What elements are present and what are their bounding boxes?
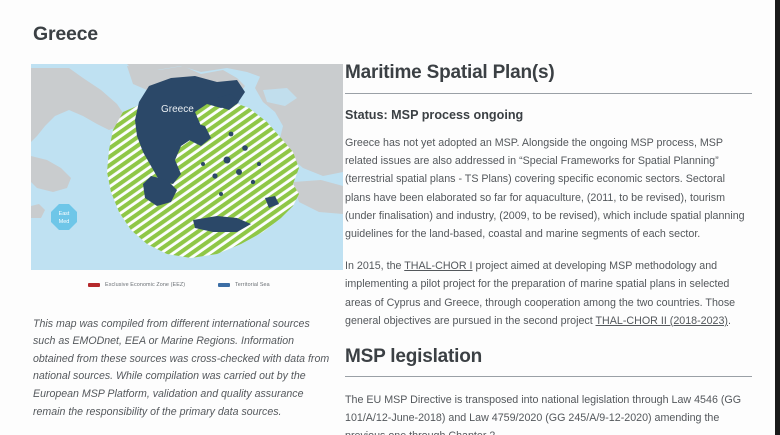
status-badge: Status: MSP process ongoing bbox=[345, 108, 752, 122]
east-med-badge-line2: Med bbox=[59, 219, 70, 225]
paragraph-legislation: The EU MSP Directive is transposed into … bbox=[345, 391, 752, 435]
page-title: Greece bbox=[33, 23, 98, 46]
section-msp-legislation: MSP legislation The EU MSP Directive is … bbox=[345, 346, 752, 435]
map-graphic bbox=[31, 64, 343, 270]
paragraph-msp-overview: Greece has not yet adopted an MSP. Along… bbox=[345, 134, 752, 243]
window-right-edge bbox=[775, 0, 780, 435]
map-caption: This map was compiled from different int… bbox=[33, 316, 333, 422]
link-thal-chor-ii[interactable]: THAL-CHOR II (2018-2023) bbox=[596, 315, 728, 327]
east-med-badge[interactable]: East Med bbox=[51, 204, 77, 230]
document-page: Greece bbox=[0, 0, 780, 435]
page-content: Greece bbox=[0, 0, 775, 435]
paragraph-thalchor-text-c: . bbox=[728, 315, 731, 327]
legend-dash-icon bbox=[218, 283, 230, 287]
section-maritime-spatial-plans: Maritime Spatial Plan(s) Status: MSP pro… bbox=[345, 62, 752, 330]
paragraph-thalchor-text-a: In 2015, the bbox=[345, 260, 404, 272]
greece-maritime-map[interactable]: Greece East Med bbox=[31, 64, 343, 270]
paragraph-thalchor: In 2015, the THAL-CHOR I project aimed a… bbox=[345, 257, 752, 330]
section-heading-legislation: MSP legislation bbox=[345, 346, 752, 376]
legend-item-eez: Exclusive Economic Zone (EEZ) bbox=[88, 282, 185, 288]
map-column: Greece East Med Exclusive Economic Zone … bbox=[31, 64, 343, 296]
text-column: Maritime Spatial Plan(s) Status: MSP pro… bbox=[345, 62, 752, 435]
legend-dash-icon bbox=[88, 283, 100, 287]
east-med-badge-line1: East bbox=[59, 211, 70, 217]
legend-label-eez: Exclusive Economic Zone (EEZ) bbox=[105, 282, 185, 288]
map-legend: Exclusive Economic Zone (EEZ) Territoria… bbox=[31, 282, 343, 296]
link-thal-chor-i[interactable]: THAL-CHOR I bbox=[404, 260, 472, 272]
section-divider bbox=[345, 376, 752, 377]
section-heading-msp: Maritime Spatial Plan(s) bbox=[345, 62, 752, 93]
section-divider bbox=[345, 93, 752, 94]
legend-item-territorial-sea: Territorial Sea bbox=[218, 282, 270, 288]
legend-label-territorial-sea: Territorial Sea bbox=[235, 282, 270, 288]
